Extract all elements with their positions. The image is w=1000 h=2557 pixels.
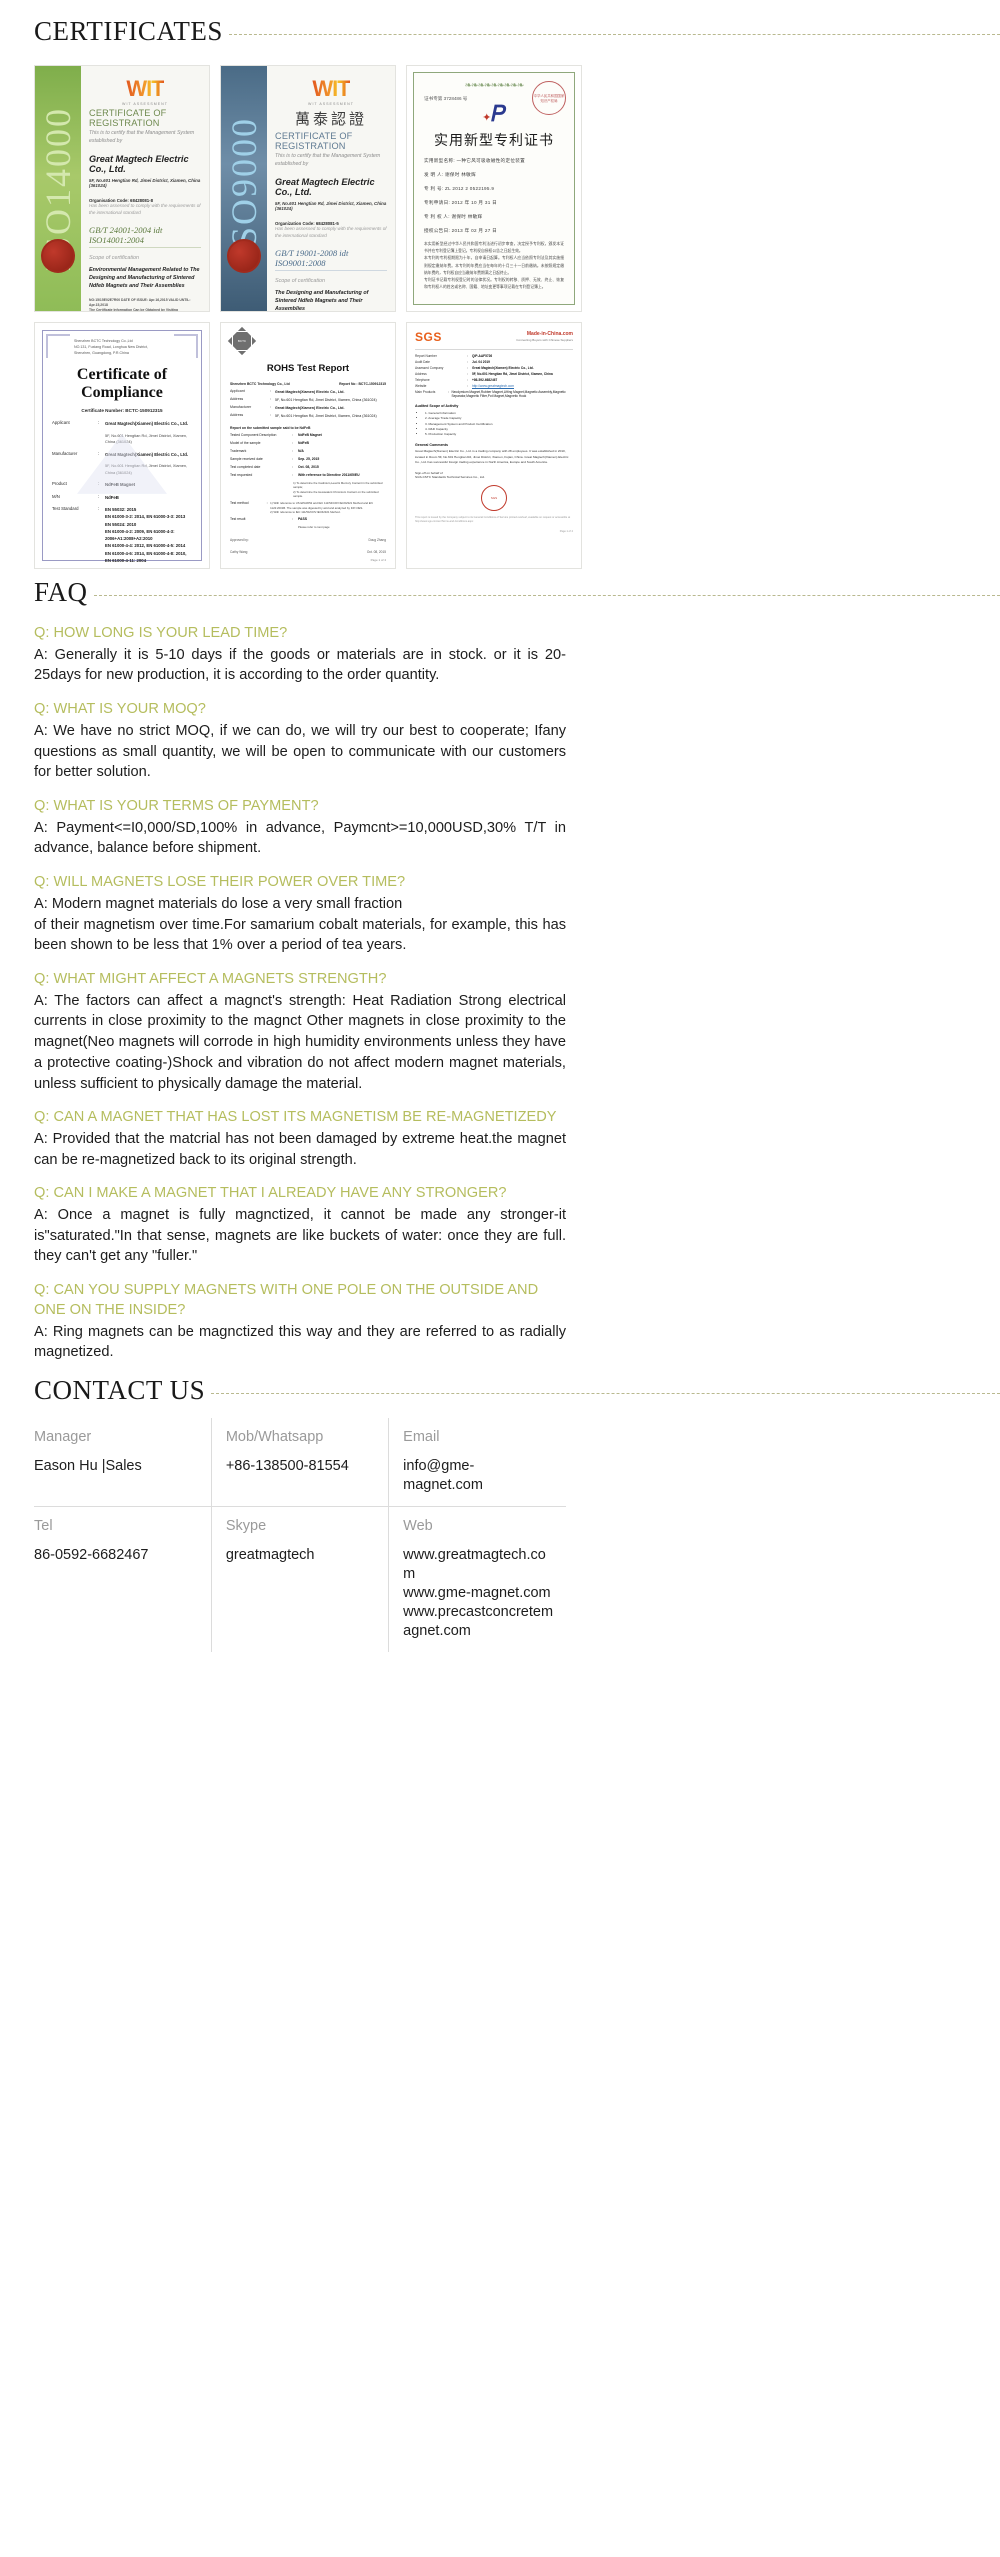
contact-value[interactable]: +86-138500-81554 bbox=[226, 1457, 376, 1476]
rohs-checker: Doug Zhang bbox=[368, 538, 386, 542]
rohs-approved-label: Approved by: bbox=[230, 538, 249, 542]
patent-official-stamp: 中华人民共和国国家知识产权局 bbox=[532, 81, 566, 115]
certificates-row-1: ISO14000 WIT WIT ASSESSMENT CERTIFICATE … bbox=[34, 65, 600, 312]
patent-frame: ❧❧❧❧❧❧❧❧❧ 中华人民共和国国家知识产权局 证书专第 3728486 号 … bbox=[413, 72, 575, 305]
certificate-of-compliance[interactable]: Shenzhen BCTC Technology Co.,Ltd NO.131,… bbox=[34, 322, 210, 569]
contact-value[interactable]: info@gme-magnet.com bbox=[403, 1457, 554, 1495]
iso14000-address: 5F, No.601 Hengtian Rd, Jimei District, … bbox=[89, 178, 201, 188]
certificates-heading: CERTIFICATES bbox=[0, 0, 1000, 45]
rohs-field: Applicant : Great Magtech(Xiamen) Electr… bbox=[230, 389, 386, 395]
faq-answer: A: Ring magnets can be magnctized this w… bbox=[34, 1322, 566, 1363]
sgs-stamp-icon: SGS bbox=[481, 485, 507, 511]
patent-row: 实用新型名称: 一种它风可吸收磁性的定位装置 bbox=[424, 158, 564, 164]
iso14000-scope-text: Environmental Management Related to The … bbox=[89, 266, 201, 290]
iso14000-intro: This is to certify that the Management S… bbox=[89, 130, 201, 145]
faq-title: FAQ bbox=[34, 579, 88, 606]
sgs-scope-title: Audited Scope of Activity bbox=[415, 404, 573, 408]
sgs-general-text: Great Magtech(Xiamen) Electric Co., Ltd.… bbox=[415, 449, 573, 465]
rohs-lab: Shenzhen BCTC Technology Co., Ltd bbox=[230, 382, 290, 386]
list-item: 5. Production Capacity bbox=[425, 432, 573, 437]
contact-cell-web: Web www.greatmagtech.com www.gme-magnet.… bbox=[389, 1507, 566, 1653]
faq-item: Q: WHAT MIGHT AFFECT A MAGNETS STRENGTH?… bbox=[34, 970, 566, 1094]
iso9000-title: CERTIFICATE OF REGISTRATION bbox=[275, 131, 387, 151]
field-value: Great Magtech(Xiamen) Electric Co., Ltd. bbox=[105, 420, 188, 427]
table-row: Manager Eason Hu |Sales Mob/Whatsapp +86… bbox=[34, 1418, 566, 1507]
rohs-report-no: Report No : BCTC-150912315 bbox=[339, 382, 386, 386]
patent-row: 专 利 权 人: 谢保时 林敏辉 bbox=[424, 214, 564, 220]
contact-label: Manager bbox=[34, 1427, 199, 1449]
field-key: Applicant bbox=[52, 420, 98, 427]
field-value: 5F, No.601 Hengtian Rd, Jimei District, … bbox=[275, 397, 377, 403]
certificate-iso9000[interactable]: ISO9000 WIT WIT ASSESSMENT 萬泰認證 CERTIFIC… bbox=[220, 65, 396, 312]
faq-question: Q: CAN I MAKE A MAGNET THAT I ALREADY HA… bbox=[34, 1184, 566, 1204]
rohs-field2: Sample received date: Sep. 25, 2015 bbox=[230, 457, 386, 462]
wit-logo: WIT WIT ASSESSMENT bbox=[275, 76, 387, 106]
field-subvalue: 1) With reference to US EPA3052 and IEC … bbox=[270, 501, 386, 515]
faq-heading: FAQ bbox=[0, 579, 1000, 606]
iso9000-address: 5F, No.601 Hengtian Rd, Jimei District, … bbox=[275, 201, 387, 211]
iso9000-note: Has been assessed to comply with the req… bbox=[275, 226, 387, 240]
field-value: NdFeB Magnet bbox=[298, 433, 322, 438]
field-key: Address bbox=[230, 397, 270, 403]
field-key: Tested Component Description bbox=[230, 433, 292, 438]
contact-label: Web bbox=[403, 1516, 554, 1538]
iso9000-scope-label: Scope of certification bbox=[275, 278, 387, 284]
sgs-footer: This report is issued by the Company sub… bbox=[415, 516, 573, 525]
field-value: With reference to Directive 2011/65/EU bbox=[298, 473, 360, 478]
rohs-field2: Tested Component Description: NdFeB Magn… bbox=[230, 433, 386, 438]
sgs-field: Assessed Company: Great Magtech(Xiamen) … bbox=[415, 366, 573, 370]
certificate-rohs-test-report[interactable]: BCTC ROHS Test Report Shenzhen BCTC Tech… bbox=[220, 322, 396, 569]
iso9000-intro: This is to certify that the Management S… bbox=[275, 153, 387, 168]
faq-answer: A: The factors can affect a magnct's str… bbox=[34, 991, 566, 1095]
iso14000-title: CERTIFICATE OF REGISTRATION bbox=[89, 108, 201, 128]
sgs-scope-list: 1. General Information 2. Average Trade … bbox=[425, 411, 573, 437]
certificate-iso14000[interactable]: ISO14000 WIT WIT ASSESSMENT CERTIFICATE … bbox=[34, 65, 210, 312]
certificate-sgs-audit-report[interactable]: SGS Made-in-China.com Connecting Buyers … bbox=[406, 322, 582, 569]
field-key: Test Standard bbox=[52, 506, 98, 564]
rohs-field2: Test completed date: Oct. 08, 2015 bbox=[230, 465, 386, 470]
faq-answer: A: We have no strict MOQ, if we can do, … bbox=[34, 721, 566, 783]
field-key: M/N bbox=[52, 494, 98, 501]
field-key: Test completed date bbox=[230, 465, 292, 470]
rohs-field: Address : 5F, No.601 Hengtian Rd, Jimei … bbox=[230, 413, 386, 419]
field-value: Oct. 08, 2015 bbox=[298, 465, 319, 470]
faq-answer: A: Provided that the matcrial has not be… bbox=[34, 1129, 566, 1170]
certificates-title: CERTIFICATES bbox=[34, 18, 223, 45]
iso14000-seal bbox=[41, 239, 75, 273]
field-value: NdFeB bbox=[298, 441, 309, 446]
field-key: Test result bbox=[230, 517, 292, 522]
certificates-row-2: Shenzhen BCTC Technology Co.,Ltd NO.131,… bbox=[34, 322, 600, 569]
faq-question: Q: WHAT IS YOUR MOQ? bbox=[34, 700, 566, 720]
iso14000-body: WIT WIT ASSESSMENT CERTIFICATE OF REGIST… bbox=[81, 66, 209, 311]
contact-label: Mob/Whatsapp bbox=[226, 1427, 376, 1449]
rohs-title: ROHS Test Report bbox=[230, 363, 386, 374]
iso14000-scope-label: Scope of certification bbox=[89, 255, 201, 261]
contact-heading: CONTACT US bbox=[0, 1377, 1000, 1404]
field-key: Sample received date bbox=[230, 457, 292, 462]
bctc-logo-icon: BCTC bbox=[228, 327, 256, 355]
patent-title: 实用新型专利证书 bbox=[424, 130, 564, 150]
heading-rule bbox=[229, 34, 1000, 35]
sgs-field: Website: http://www.greatmagtech.com bbox=[415, 384, 573, 388]
faq-item: Q: CAN A MAGNET THAT HAS LOST ITS MAGNET… bbox=[34, 1108, 566, 1170]
rohs-top-row: BCTC bbox=[230, 331, 386, 351]
patent-row: 授权公告日: 2013 年 02 月 27 日 bbox=[424, 228, 564, 234]
sgs-field: Audit Date: Jul. 04 2019 bbox=[415, 360, 573, 364]
field-key: Manufacturer bbox=[52, 451, 98, 458]
contact-section: Manager Eason Hu |Sales Mob/Whatsapp +86… bbox=[0, 1404, 600, 1682]
field-value: QIP-AAF5726 bbox=[472, 354, 492, 358]
field-value: Great Magtech(Xiamen) Electric Co., Ltd. bbox=[275, 389, 345, 395]
rohs-field2: Trademark: N/A bbox=[230, 449, 386, 454]
field-key: Trademark bbox=[230, 449, 292, 454]
faq-question: Q: CAN YOU SUPPLY MAGNETS WITH ONE POLE … bbox=[34, 1281, 566, 1320]
compliance-field: Applicant : Great Magtech(Xiamen) Electr… bbox=[52, 420, 192, 427]
field-value: NdFeB bbox=[105, 494, 119, 501]
table-row: Tel 86-0592-6682467 Skype greatmagtech W… bbox=[34, 1507, 566, 1653]
contact-value[interactable]: greatmagtech bbox=[226, 1546, 376, 1565]
field-value: PASS bbox=[298, 517, 307, 522]
made-in-china-logo-icon: Made-in-China.com Connecting Buyers with… bbox=[516, 331, 573, 342]
rohs-field2: Test requested: With reference to Direct… bbox=[230, 473, 386, 478]
divider bbox=[415, 349, 573, 350]
patent-row: 专利申请日: 2012 年 10 月 31 日 bbox=[424, 200, 564, 206]
iso14000-note: Has been assessed to comply with the req… bbox=[89, 203, 201, 217]
field-value: N/A bbox=[298, 449, 304, 454]
sgs-field: Telephone: +86-592-6682467 bbox=[415, 378, 573, 382]
rohs-field2: Model of the sample: NdFeB bbox=[230, 441, 386, 446]
sgs-field: Report Number: QIP-AAF5726 bbox=[415, 354, 573, 358]
corner-ornament-icon bbox=[174, 334, 198, 358]
contact-value[interactable]: www.greatmagtech.com www.gme-magnet.com … bbox=[403, 1546, 554, 1642]
contact-value[interactable]: 86-0592-6682467 bbox=[34, 1546, 199, 1565]
field-key: Telephone bbox=[415, 378, 467, 382]
patent-row: 专 利 号: ZL 2012 2 0522195.9 bbox=[424, 186, 564, 192]
sgs-sign-sub: SGS-CSTC Standards Technical Services Co… bbox=[415, 475, 573, 479]
sgs-field: Main Products: Neodymium Magnet,Rubber M… bbox=[415, 390, 573, 398]
field-value: Jul. 04 2019 bbox=[472, 360, 490, 364]
field-value: Great Magtech(Xiamen) Electric Co., Ltd. bbox=[472, 366, 534, 370]
field-key: Model of the sample bbox=[230, 441, 292, 446]
heading-rule bbox=[211, 1393, 1000, 1394]
iso9000-chinese-title: 萬泰認證 bbox=[275, 108, 387, 129]
iso9000-company: Great Magtech Electric Co., Ltd. bbox=[275, 177, 387, 197]
sgs-field: Address: 5F, No.601 Hengtian Rd, Jimei D… bbox=[415, 372, 573, 376]
faq-item: Q: HOW LONG IS YOUR LEAD TIME? A: Genera… bbox=[34, 624, 566, 686]
field-key: Manufacturer bbox=[230, 405, 270, 411]
wit-logo-text: WIT bbox=[312, 76, 349, 102]
faq-question: Q: WILL MAGNETS LOSE THEIR POWER OVER TI… bbox=[34, 873, 566, 893]
contact-label: Tel bbox=[34, 1516, 199, 1538]
rohs-field2: Test result: PASS bbox=[230, 517, 386, 522]
wit-logo: WIT WIT ASSESSMENT bbox=[89, 76, 201, 106]
field-value: 5F, No.601 Hengtian Rd, Jimei District, … bbox=[472, 372, 553, 376]
contact-table: Manager Eason Hu |Sales Mob/Whatsapp +86… bbox=[34, 1418, 566, 1652]
contact-label: Email bbox=[403, 1427, 554, 1449]
corner-ornament-icon bbox=[46, 334, 70, 358]
faq-answer: A: Once a magnet is fully magnctized, it… bbox=[34, 1205, 566, 1267]
field-value: +86-592-6682467 bbox=[472, 378, 497, 382]
compliance-title: Certificate of Compliance bbox=[52, 366, 192, 402]
rohs-signature-line: Approved by: Doug Zhang bbox=[230, 538, 386, 542]
contact-cell-whatsapp: Mob/Whatsapp +86-138500-81554 bbox=[211, 1418, 388, 1507]
field-key: Assessed Company bbox=[415, 366, 467, 370]
faq-list: Q: HOW LONG IS YOUR LEAD TIME? A: Genera… bbox=[0, 606, 600, 1363]
field-value: Neodymium Magnet,Rubber Magnet,Lifting M… bbox=[451, 390, 573, 398]
iso9000-seal bbox=[227, 239, 261, 273]
patent-row: 发 明 人: 谢保时 林敏辉 bbox=[424, 172, 564, 178]
iso9000-scope-text: The Designing and Manufacturing of Sinte… bbox=[275, 289, 387, 312]
wit-logo-subtitle: WIT ASSESSMENT bbox=[89, 102, 201, 106]
rohs-field2: Test method: 1) With reference to US EPA… bbox=[230, 501, 386, 515]
sgs-top: SGS Made-in-China.com Connecting Buyers … bbox=[415, 330, 573, 344]
field-subvalue: 1) To determine the Cadmium,Lead & Mercu… bbox=[293, 481, 386, 499]
wit-logo-text: WIT bbox=[126, 76, 163, 102]
compliance-field: M/N : NdFeB bbox=[52, 494, 192, 501]
field-subvalue: Please refer to next page bbox=[298, 525, 330, 530]
iso14000-company: Great Magtech Electric Co., Ltd. bbox=[89, 154, 201, 174]
contact-value: Eason Hu |Sales bbox=[34, 1457, 199, 1476]
sgs-page: Page 1 of 4 bbox=[415, 530, 573, 534]
iso9000-standard: GB/T 19001-2008 idt ISO9001:2008 bbox=[275, 248, 387, 271]
contact-cell-skype: Skype greatmagtech bbox=[211, 1507, 388, 1653]
faq-item: Q: CAN YOU SUPPLY MAGNETS WITH ONE POLE … bbox=[34, 1281, 566, 1363]
field-value: 5F, No.601 Hengtian Rd, Jimei District, … bbox=[275, 413, 377, 419]
iso14000-spine: ISO14000 bbox=[35, 66, 81, 311]
rohs-report-line: Report on the submitted sample said to b… bbox=[230, 426, 386, 430]
faq-item: Q: WILL MAGNETS LOSE THEIR POWER OVER TI… bbox=[34, 873, 566, 956]
field-value: Sep. 25, 2015 bbox=[298, 457, 319, 462]
field-value: Great Magtech(Xiamen) Electric Co., Ltd. bbox=[275, 405, 345, 411]
contact-title: CONTACT US bbox=[34, 1377, 205, 1404]
wit-logo-subtitle: WIT ASSESSMENT bbox=[275, 102, 387, 106]
product-detail-page: CERTIFICATES ISO14000 WIT WIT ASSESSMENT… bbox=[0, 0, 1000, 2557]
faq-item: Q: WHAT IS YOUR TERMS OF PAYMENT? A: Pay… bbox=[34, 797, 566, 859]
faq-question: Q: WHAT IS YOUR TERMS OF PAYMENT? bbox=[34, 797, 566, 817]
certificate-utility-patent[interactable]: ❧❧❧❧❧❧❧❧❧ 中华人民共和国国家知识产权局 证书专第 3728486 号 … bbox=[406, 65, 582, 312]
rohs-field: Manufacturer : Great Magtech(Xiamen) Ele… bbox=[230, 405, 386, 411]
field-key: Test requested bbox=[230, 473, 292, 478]
field-key: Main Products bbox=[415, 390, 448, 398]
rohs-field: Address : 5F, No.601 Hengtian Rd, Jimei … bbox=[230, 397, 386, 403]
compliance-field: Test Standard : EN 55032: 2015 EN 61000-… bbox=[52, 506, 192, 564]
contact-cell-tel: Tel 86-0592-6682467 bbox=[34, 1507, 211, 1653]
faq-item: Q: WHAT IS YOUR MOQ? A: We have no stric… bbox=[34, 700, 566, 783]
compliance-frame: Shenzhen BCTC Technology Co.,Ltd NO.131,… bbox=[42, 330, 202, 561]
faq-answer: A: Modern magnet materials do lose a ver… bbox=[34, 894, 566, 956]
contact-label: Skype bbox=[226, 1516, 376, 1538]
certificates-grid: ISO14000 WIT WIT ASSESSMENT CERTIFICATE … bbox=[0, 45, 600, 569]
contact-cell-email: Email info@gme-magnet.com bbox=[389, 1418, 566, 1507]
sgs-logo-icon: SGS bbox=[415, 330, 442, 344]
sgs-general-title: General Comments bbox=[415, 443, 573, 447]
faq-question: Q: HOW LONG IS YOUR LEAD TIME? bbox=[34, 624, 566, 644]
field-key: Report Number bbox=[415, 354, 467, 358]
iso14000-meta: NO:15/15E02E7R00 DATE OF ISSUE: Apr.16,2… bbox=[89, 298, 201, 312]
field-key: Address bbox=[230, 413, 270, 419]
rohs-date: Oct. 08, 2015 bbox=[367, 550, 386, 554]
iso14000-standard: GB/T 24001-2004 idt ISO14001:2004 bbox=[89, 225, 201, 248]
faq-question: Q: WHAT MIGHT AFFECT A MAGNETS STRENGTH? bbox=[34, 970, 566, 990]
faq-item: Q: CAN I MAKE A MAGNET THAT I ALREADY HA… bbox=[34, 1184, 566, 1267]
rohs-signer: Cathy Wang bbox=[230, 550, 247, 554]
contact-cell-manager: Manager Eason Hu |Sales bbox=[34, 1418, 211, 1507]
faq-answer: A: Generally it is 5-10 days if the good… bbox=[34, 645, 566, 686]
field-key: Audit Date bbox=[415, 360, 467, 364]
heading-rule bbox=[94, 595, 1000, 596]
field-key: Applicant bbox=[230, 389, 270, 395]
field-key: Test method bbox=[230, 501, 267, 515]
field-key: Address bbox=[415, 372, 467, 376]
faq-question: Q: CAN A MAGNET THAT HAS LOST ITS MAGNET… bbox=[34, 1108, 566, 1128]
faq-answer: A: Payment<=I0,000/SD,100% in advance, P… bbox=[34, 818, 566, 859]
compliance-cert-number: Certificate Number: BCTC-150912315 bbox=[52, 408, 192, 413]
iso9000-body: WIT WIT ASSESSMENT 萬泰認證 CERTIFICATE OF R… bbox=[267, 66, 395, 311]
patent-body: 本实用新型经过中华人民共和国专利法进行初步审查，决定授予专利权，颁发本证书并在专… bbox=[424, 241, 564, 291]
field-value: EN 55032: 2015 EN 61000-3-2: 2014, EN 61… bbox=[105, 506, 192, 564]
rohs-page: Page 1 of 4 bbox=[230, 558, 386, 562]
sgs-website-link[interactable]: http://www.greatmagtech.com bbox=[472, 384, 514, 388]
field-key: Website bbox=[415, 384, 467, 388]
iso9000-spine: ISO9000 bbox=[221, 66, 267, 311]
